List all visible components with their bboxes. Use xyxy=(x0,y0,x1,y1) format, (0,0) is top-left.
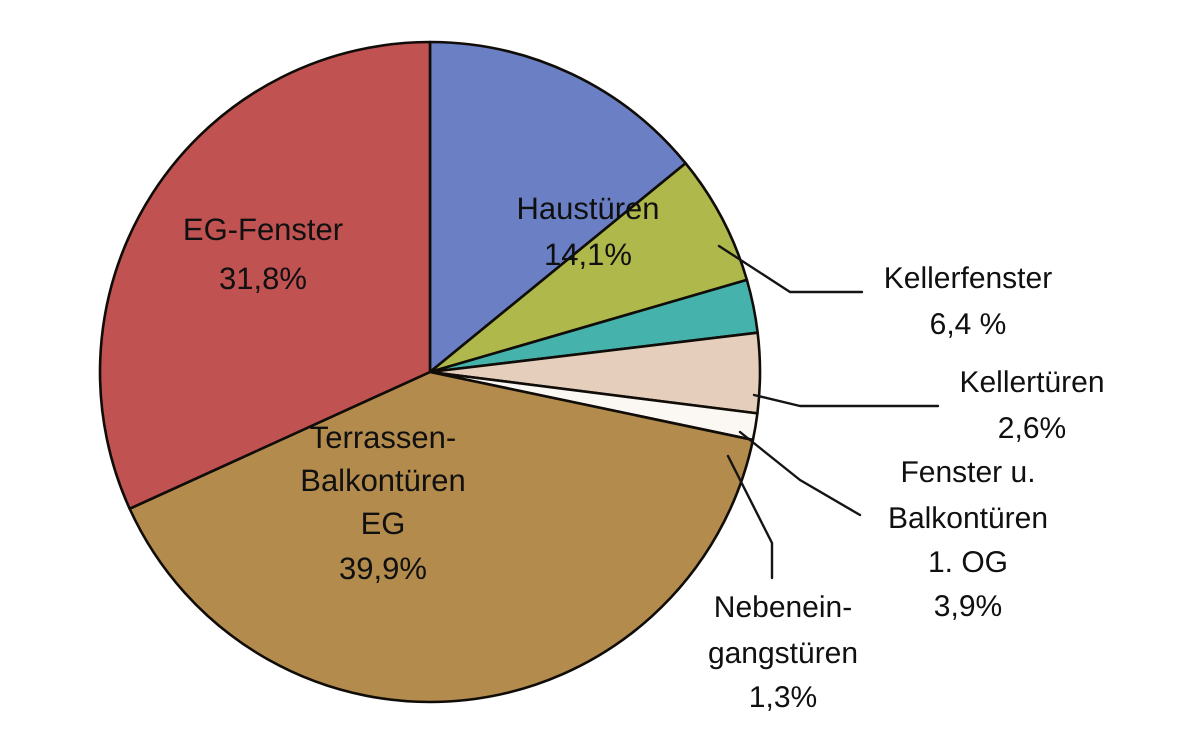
label-terrassen-line3: EG xyxy=(361,506,406,541)
pie-chart-svg: EG-Fenster 31,8% Haustüren 14,1% Kellerf… xyxy=(0,0,1200,750)
label-fenster-og-line4: 3,9% xyxy=(934,590,1002,623)
label-kellertueren: Kellertüren 2,6% xyxy=(959,366,1104,445)
label-kellerfenster: Kellerfenster 6,4 % xyxy=(884,262,1052,341)
pie-chart-container: EG-Fenster 31,8% Haustüren 14,1% Kellerf… xyxy=(0,0,1200,750)
leader-line-fenster-og xyxy=(740,432,860,515)
label-kellertueren-line1: Kellertüren xyxy=(959,366,1104,399)
label-terrassen-line2: Balkontüren xyxy=(300,463,465,498)
label-nebeneingangstueren: Nebenein- gangstüren 1,3% xyxy=(708,591,858,714)
label-eg-fenster-line2: 31,8% xyxy=(219,261,307,296)
label-haustueren-line2: 14,1% xyxy=(544,237,632,272)
label-eg-fenster-line1: EG-Fenster xyxy=(183,212,343,247)
label-terrassen-line4: 39,9% xyxy=(339,551,427,586)
leader-line-kellertueren xyxy=(754,395,938,406)
label-fenster-og-line2: Balkontüren xyxy=(888,502,1048,535)
label-kellerfenster-line2: 6,4 % xyxy=(930,308,1007,341)
label-terrassen-line1: Terrassen- xyxy=(310,420,456,455)
label-neben-line3: 1,3% xyxy=(749,681,817,714)
label-kellertueren-line2: 2,6% xyxy=(998,412,1066,445)
label-haustueren-line1: Haustüren xyxy=(516,191,659,226)
pie-slices xyxy=(100,42,760,702)
label-fenster-balkontueren-1og: Fenster u. Balkontüren 1. OG 3,9% xyxy=(888,456,1048,623)
label-fenster-og-line3: 1. OG xyxy=(928,546,1008,579)
label-neben-line1: Nebenein- xyxy=(714,591,852,624)
label-fenster-og-line1: Fenster u. xyxy=(900,456,1035,489)
label-kellerfenster-line1: Kellerfenster xyxy=(884,262,1052,295)
label-neben-line2: gangstüren xyxy=(708,637,858,670)
